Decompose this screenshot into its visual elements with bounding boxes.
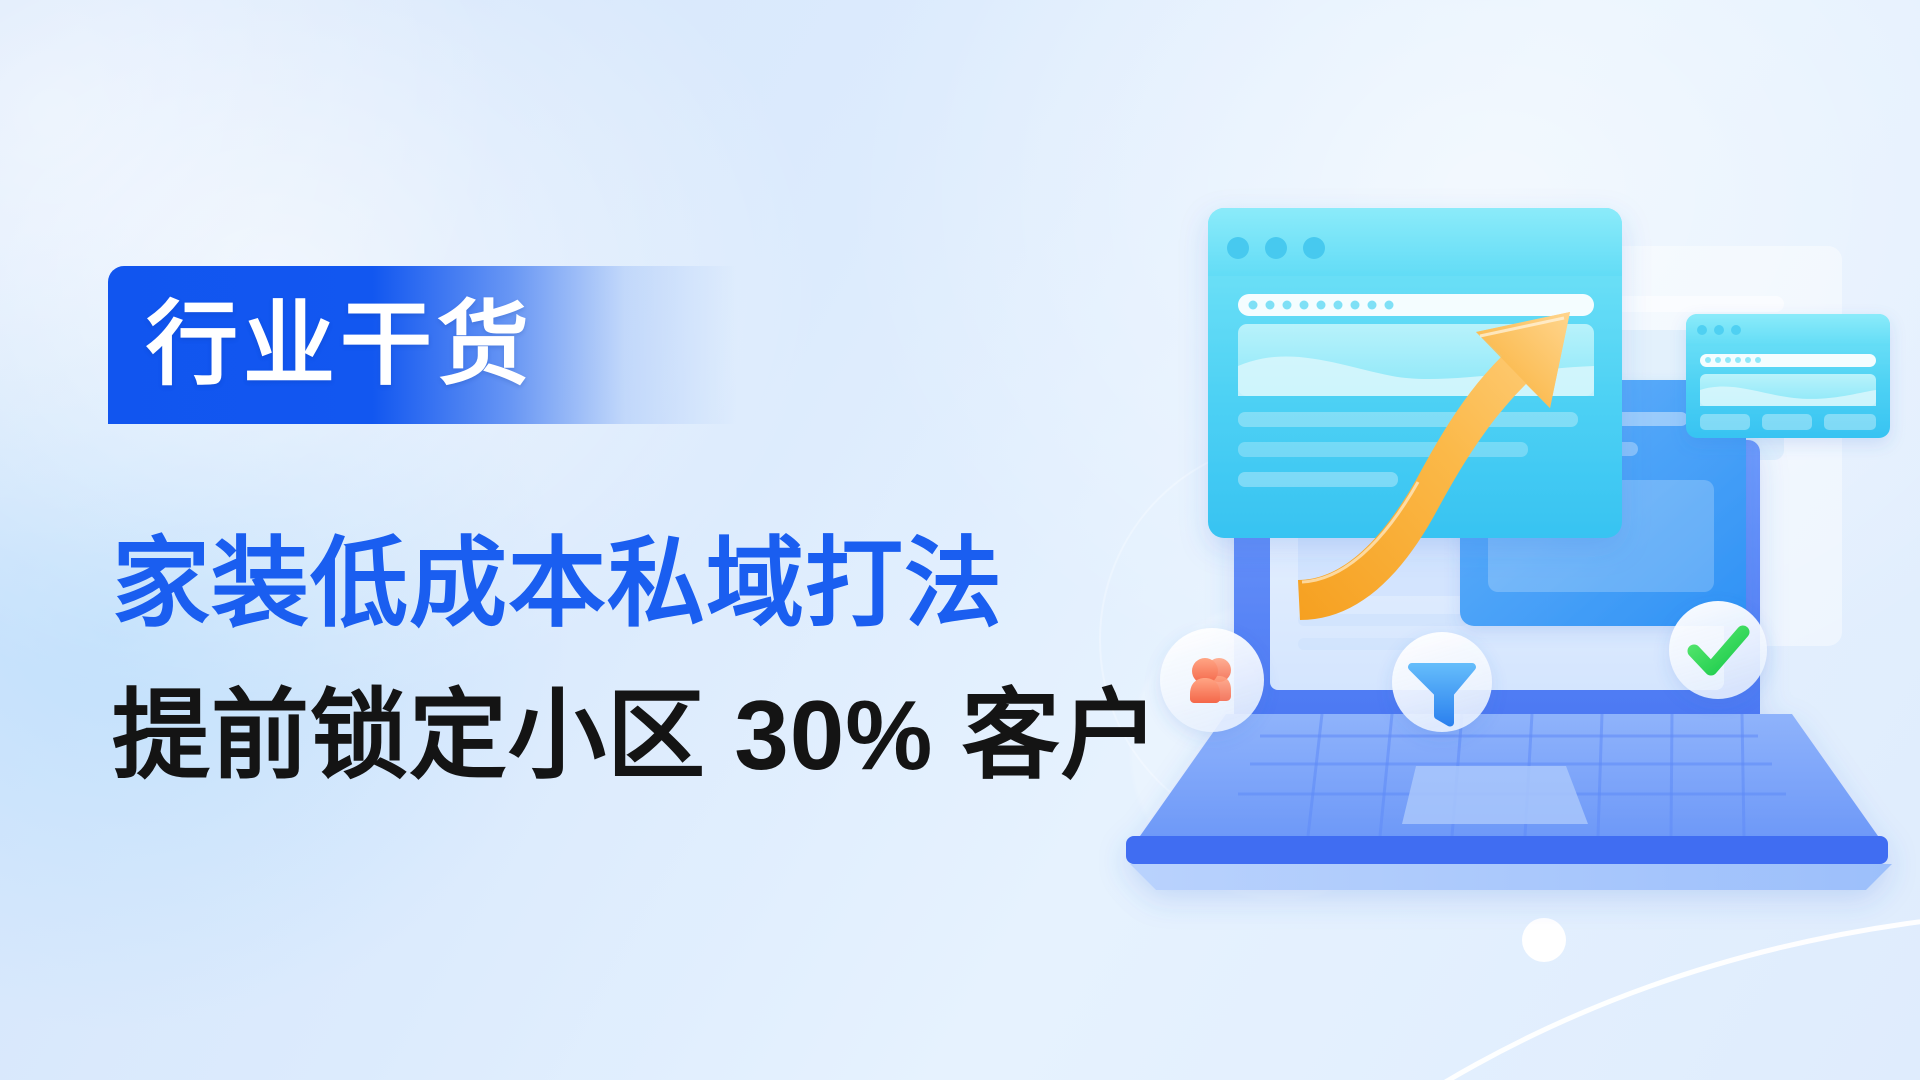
growth-dashboard-illustration [1130,180,1920,900]
headline-secondary: 提前锁定小区 30% 客户 [112,686,1160,784]
category-badge: 行业干货 [108,266,738,424]
window-dot [1227,237,1249,259]
users-icon [1190,658,1231,703]
mini-browser-card [1686,314,1890,438]
category-badge-label: 行业干货 [146,299,534,391]
window-dot [1265,237,1287,259]
users-badge [1160,628,1264,732]
banner-canvas: 行业干货 家装低成本私域打法 提前锁定小区 30% 客户 [0,0,1920,1080]
window-dot [1303,237,1325,259]
filter-badge [1392,632,1492,732]
headline-primary: 家装低成本私域打法 [112,534,1003,632]
background-orbit-dot [1522,918,1566,962]
check-badge [1669,601,1767,699]
